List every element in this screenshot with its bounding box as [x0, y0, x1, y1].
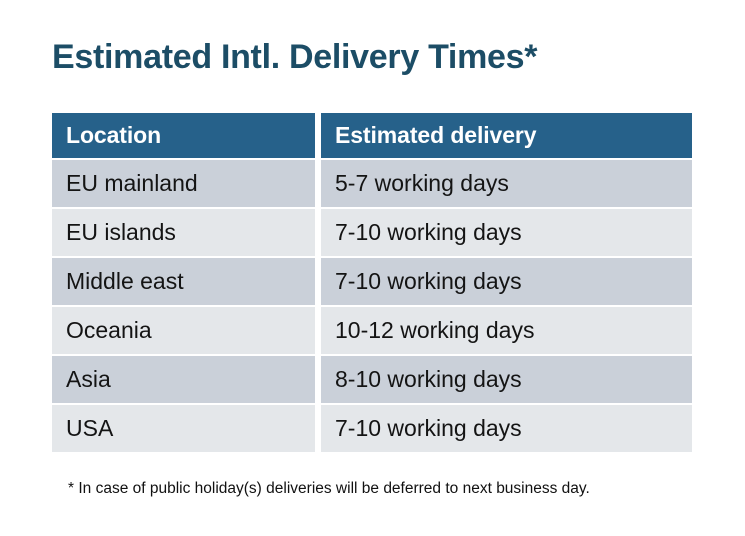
table-row: EU mainland 5-7 working days [52, 160, 692, 207]
table-cell-location: EU islands [52, 209, 315, 256]
table-cell-estimated-delivery-text: 7-10 working days [335, 268, 522, 295]
table-cell-estimated-delivery: 7-10 working days [321, 258, 692, 305]
table-header-label-estimated-delivery: Estimated delivery [335, 122, 536, 149]
table-cell-location: Asia [52, 356, 315, 403]
delivery-times-table: Location Estimated delivery EU mainland … [52, 113, 692, 454]
footnote: * In case of public holiday(s) deliverie… [68, 479, 590, 499]
table-cell-location-text: EU islands [66, 219, 176, 246]
table-cell-estimated-delivery-text: 7-10 working days [335, 219, 522, 246]
table-cell-location: EU mainland [52, 160, 315, 207]
table-header-cell-location: Location [52, 113, 315, 158]
table-cell-estimated-delivery-text: 8-10 working days [335, 366, 522, 393]
page-title: Estimated Intl. Delivery Times* [52, 36, 537, 78]
table-cell-estimated-delivery: 7-10 working days [321, 209, 692, 256]
table-header-cell-estimated-delivery: Estimated delivery [321, 113, 692, 158]
table-cell-location-text: EU mainland [66, 170, 198, 197]
table-cell-estimated-delivery-text: 5-7 working days [335, 170, 509, 197]
table-cell-estimated-delivery-text: 7-10 working days [335, 415, 522, 442]
table-cell-location-text: Oceania [66, 317, 152, 344]
table-cell-estimated-delivery: 8-10 working days [321, 356, 692, 403]
table-row: EU islands 7-10 working days [52, 209, 692, 256]
table-cell-estimated-delivery: 10-12 working days [321, 307, 692, 354]
table-header-label-location: Location [66, 122, 161, 149]
table-cell-location-text: USA [66, 415, 113, 442]
table-cell-estimated-delivery: 5-7 working days [321, 160, 692, 207]
table-row: Asia 8-10 working days [52, 356, 692, 403]
table-row: USA 7-10 working days [52, 405, 692, 452]
table-cell-estimated-delivery: 7-10 working days [321, 405, 692, 452]
table-cell-estimated-delivery-text: 10-12 working days [335, 317, 534, 344]
table-cell-location: Oceania [52, 307, 315, 354]
delivery-times-card: Estimated Intl. Delivery Times* Location… [0, 0, 745, 536]
table-cell-location-text: Middle east [66, 268, 184, 295]
table-header-row: Location Estimated delivery [52, 113, 692, 158]
table-cell-location: Middle east [52, 258, 315, 305]
table-row: Oceania 10-12 working days [52, 307, 692, 354]
table-cell-location-text: Asia [66, 366, 111, 393]
table-cell-location: USA [52, 405, 315, 452]
table-row: Middle east 7-10 working days [52, 258, 692, 305]
